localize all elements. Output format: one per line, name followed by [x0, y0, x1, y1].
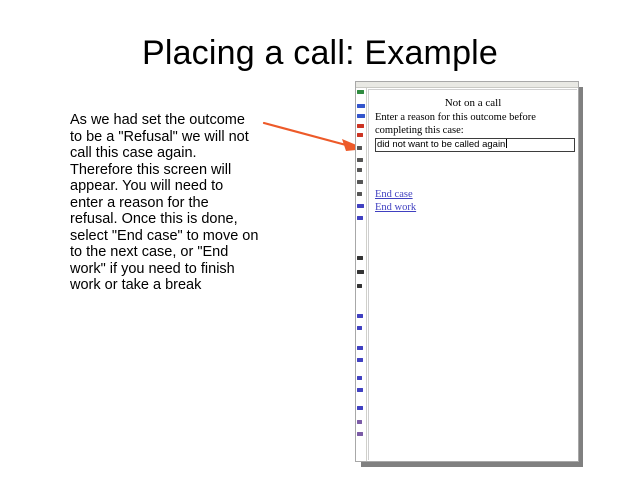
underlay-text-fragment: [357, 180, 363, 184]
pointer-arrow-icon: [262, 118, 366, 154]
underlay-text-fragment: [357, 158, 363, 162]
underlay-text-fragment: [357, 90, 364, 94]
underlay-text-fragment: [357, 168, 362, 172]
underlay-text-fragment: [357, 326, 362, 330]
underlay-text-fragment: [357, 388, 363, 392]
dialog-instruction-text: Enter a reason for this outcome before c…: [375, 111, 575, 137]
underlay-text-fragment: [357, 133, 363, 137]
underlay-text-fragment: [357, 256, 363, 260]
browser-chrome-bar: [356, 82, 579, 88]
text-caret: [506, 139, 507, 148]
underlay-text-fragment: [357, 204, 364, 208]
end-work-link[interactable]: End work: [375, 202, 416, 213]
underlay-text-fragment: [357, 124, 364, 128]
reason-input[interactable]: did not want to be called again: [375, 138, 575, 152]
underlay-text-fragment: [357, 270, 364, 274]
underlay-text-fragment: [357, 216, 363, 220]
underlay-text-fragment: [357, 358, 363, 362]
underlay-text-fragment: [357, 420, 362, 424]
underlay-text-fragment: [357, 346, 363, 350]
underlay-text-fragment: [357, 314, 363, 318]
underlay-text-fragment: [357, 376, 362, 380]
reason-input-value: did not want to be called again: [377, 139, 505, 150]
underlying-page-sliver: [356, 88, 367, 461]
end-case-link[interactable]: End case: [375, 189, 413, 200]
dialog-content-area: Not on a call Enter a reason for this ou…: [368, 89, 577, 460]
page-title: Placing a call: Example: [0, 34, 640, 73]
dialog-heading: Not on a call: [369, 97, 577, 109]
underlay-text-fragment: [357, 432, 363, 436]
underlay-text-fragment: [357, 406, 363, 410]
underlay-text-fragment: [357, 104, 365, 108]
underlay-text-fragment: [357, 114, 365, 118]
screenshot-panel: Not on a call Enter a reason for this ou…: [355, 81, 579, 462]
slide-body-text: As we had set the outcome to be a "Refus…: [70, 112, 260, 294]
underlay-text-fragment: [357, 192, 362, 196]
underlay-text-fragment: [357, 146, 362, 150]
underlay-text-fragment: [357, 284, 362, 288]
